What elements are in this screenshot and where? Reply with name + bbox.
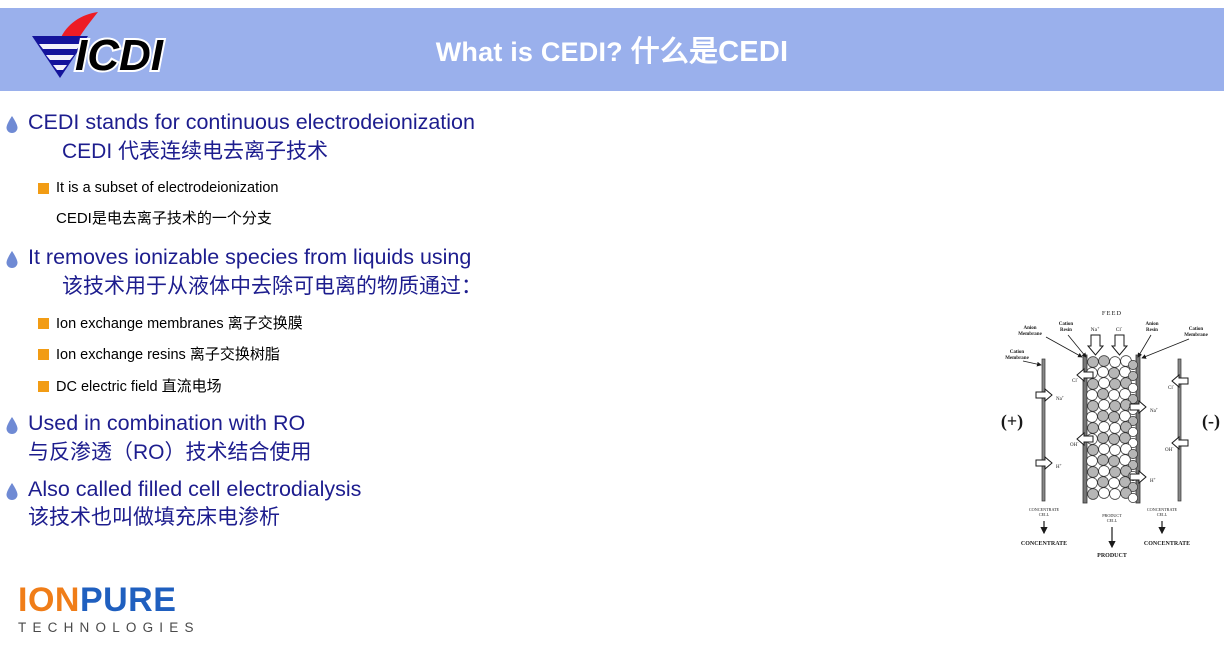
sub-bullet-2-1-en: Ion exchange membranes xyxy=(56,316,228,332)
sub-bullet-2-2: Ion exchange resins 离子交换树脂 xyxy=(0,347,700,363)
diagram-label-cation-membrane-left: CationMembrane xyxy=(1005,350,1029,361)
bullet-item-2-cn: 该技术用于从液体中去除可电离的物质通过： xyxy=(28,276,700,297)
bullet-item-4-en: Also called filled cell electrodialysis xyxy=(28,479,700,501)
sub-bullet-2-3: DC electric field 直流电场 xyxy=(0,379,700,395)
bullet-item-4: Also called filled cell electrodialysis … xyxy=(0,479,700,529)
diagram-cation-membrane-left xyxy=(1042,359,1045,501)
orange-square-bullet-icon xyxy=(38,183,49,194)
diagram-ion-cl-feed: Cl- xyxy=(1116,325,1123,333)
sub-bullet-2-3-cn: 直流电场 xyxy=(162,378,222,395)
diagram-label-cation-membrane-right: CationMembrane xyxy=(1184,327,1208,338)
diagram-ion-cl-right: Cl- xyxy=(1168,384,1175,391)
diagram-cell-center: PRODUCTCELL xyxy=(1102,513,1122,523)
bullet-item-2-en: It removes ionizable species from liquid… xyxy=(28,247,700,269)
sub-bullet-1-2: CEDI是电去离子技术的一个分支 xyxy=(0,211,700,226)
sub-bullet-2-2-cn: 离子交换树脂 xyxy=(190,346,280,363)
diagram-output-right: CONCENTRATE xyxy=(1144,541,1190,547)
diagram-label-cation-resin: CationResin xyxy=(1059,322,1074,333)
diagram-output-center: PRODUCT xyxy=(1097,553,1127,559)
diagram-resin-bed xyxy=(1087,356,1138,503)
slide-content: CEDI stands for continuous electrodeioni… xyxy=(0,112,700,528)
bullet-item-3-en: Used in combination with RO xyxy=(28,413,700,435)
water-drop-bullet-icon xyxy=(6,417,18,434)
bullet-item-3-cn: 与反渗透（RO）技术结合使用 xyxy=(28,442,700,463)
ionpure-part-pure: PURE xyxy=(80,581,176,619)
slide-title-en: What is CEDI? xyxy=(436,37,631,67)
bullet-item-1: CEDI stands for continuous electrodeioni… xyxy=(0,112,700,162)
diagram-ion-oh-center-left: OH- xyxy=(1070,441,1079,448)
water-drop-bullet-icon xyxy=(6,483,18,500)
diagram-label-anion-resin: AnionResin xyxy=(1145,322,1158,333)
diagram-label-anion-membrane: AnionMembrane xyxy=(1018,326,1042,337)
cedi-cell-diagram: FEED Na+ Cl- xyxy=(1000,305,1224,560)
sub-bullet-2-2-en: Ion exchange resins xyxy=(56,347,190,363)
diagram-callout-labels: AnionMembrane CationResin AnionResin Cat… xyxy=(1005,322,1208,361)
bullet-item-2: It removes ionizable species from liquid… xyxy=(0,247,700,297)
diagram-ion-na-center-right: Na+ xyxy=(1150,407,1158,414)
sub-bullet-1-1: It is a subset of electrodeionization xyxy=(0,181,700,196)
ionpure-logo: IONPURE TECHNOLOGIES xyxy=(18,583,200,635)
diagram-electrode-positive: (+) xyxy=(1001,411,1023,432)
ionpure-part-ion: ION xyxy=(18,581,80,619)
water-drop-bullet-icon xyxy=(6,251,18,268)
diagram-output-left: CONCENTRATE xyxy=(1021,541,1067,547)
diagram-cell-left: CONCENTRATECELL xyxy=(1029,507,1060,517)
diagram-ion-h-center-right: H+ xyxy=(1150,477,1156,484)
orange-square-bullet-icon xyxy=(38,318,49,329)
slide-title: What is CEDI? 什么是CEDI xyxy=(0,28,1224,70)
diagram-electrode-negative: (-) xyxy=(1202,411,1220,432)
diagram-ion-oh-right: OH- xyxy=(1165,446,1174,453)
bullet-item-1-cn: CEDI 代表连续电去离子技术 xyxy=(28,141,700,162)
diagram-outputs: CONCENTRATE PRODUCT CONCENTRATE xyxy=(1021,541,1190,559)
bullet-item-3: Used in combination with RO 与反渗透（RO）技术结合… xyxy=(0,413,700,463)
ionpure-wordmark: IONPURE xyxy=(18,583,200,617)
diagram-ion-cl-center-left: Cl- xyxy=(1072,377,1079,384)
sub-bullet-2-1: Ion exchange membranes 离子交换膜 xyxy=(0,316,700,332)
ionpure-tagline: TECHNOLOGIES xyxy=(18,620,200,635)
diagram-cell-right: CONCENTRATECELL xyxy=(1147,507,1178,517)
bullet-item-4-cn: 该技术也叫做填充床电渗析 xyxy=(28,507,700,528)
diagram-ion-na-feed: Na+ xyxy=(1091,325,1100,333)
slide-title-cn: 什么是CEDI xyxy=(631,36,789,68)
sub-bullet-2-3-en: DC electric field xyxy=(56,379,162,395)
water-drop-bullet-icon xyxy=(6,116,18,133)
sub-bullet-2-1-cn: 离子交换膜 xyxy=(228,315,303,332)
diagram-cell-captions: CONCENTRATECELL PRODUCTCELL CONCENTRATEC… xyxy=(1029,507,1178,523)
bullet-item-1-en: CEDI stands for continuous electrodeioni… xyxy=(28,112,700,134)
orange-square-bullet-icon xyxy=(38,381,49,392)
orange-square-bullet-icon xyxy=(38,349,49,360)
diagram-ion-h-left: H+ xyxy=(1056,463,1062,470)
diagram-ion-na-left: Na+ xyxy=(1056,395,1064,402)
diagram-label-feed: FEED xyxy=(1102,310,1122,317)
sub-bullet-1-1-text: It is a subset of electrodeionization xyxy=(56,180,278,196)
